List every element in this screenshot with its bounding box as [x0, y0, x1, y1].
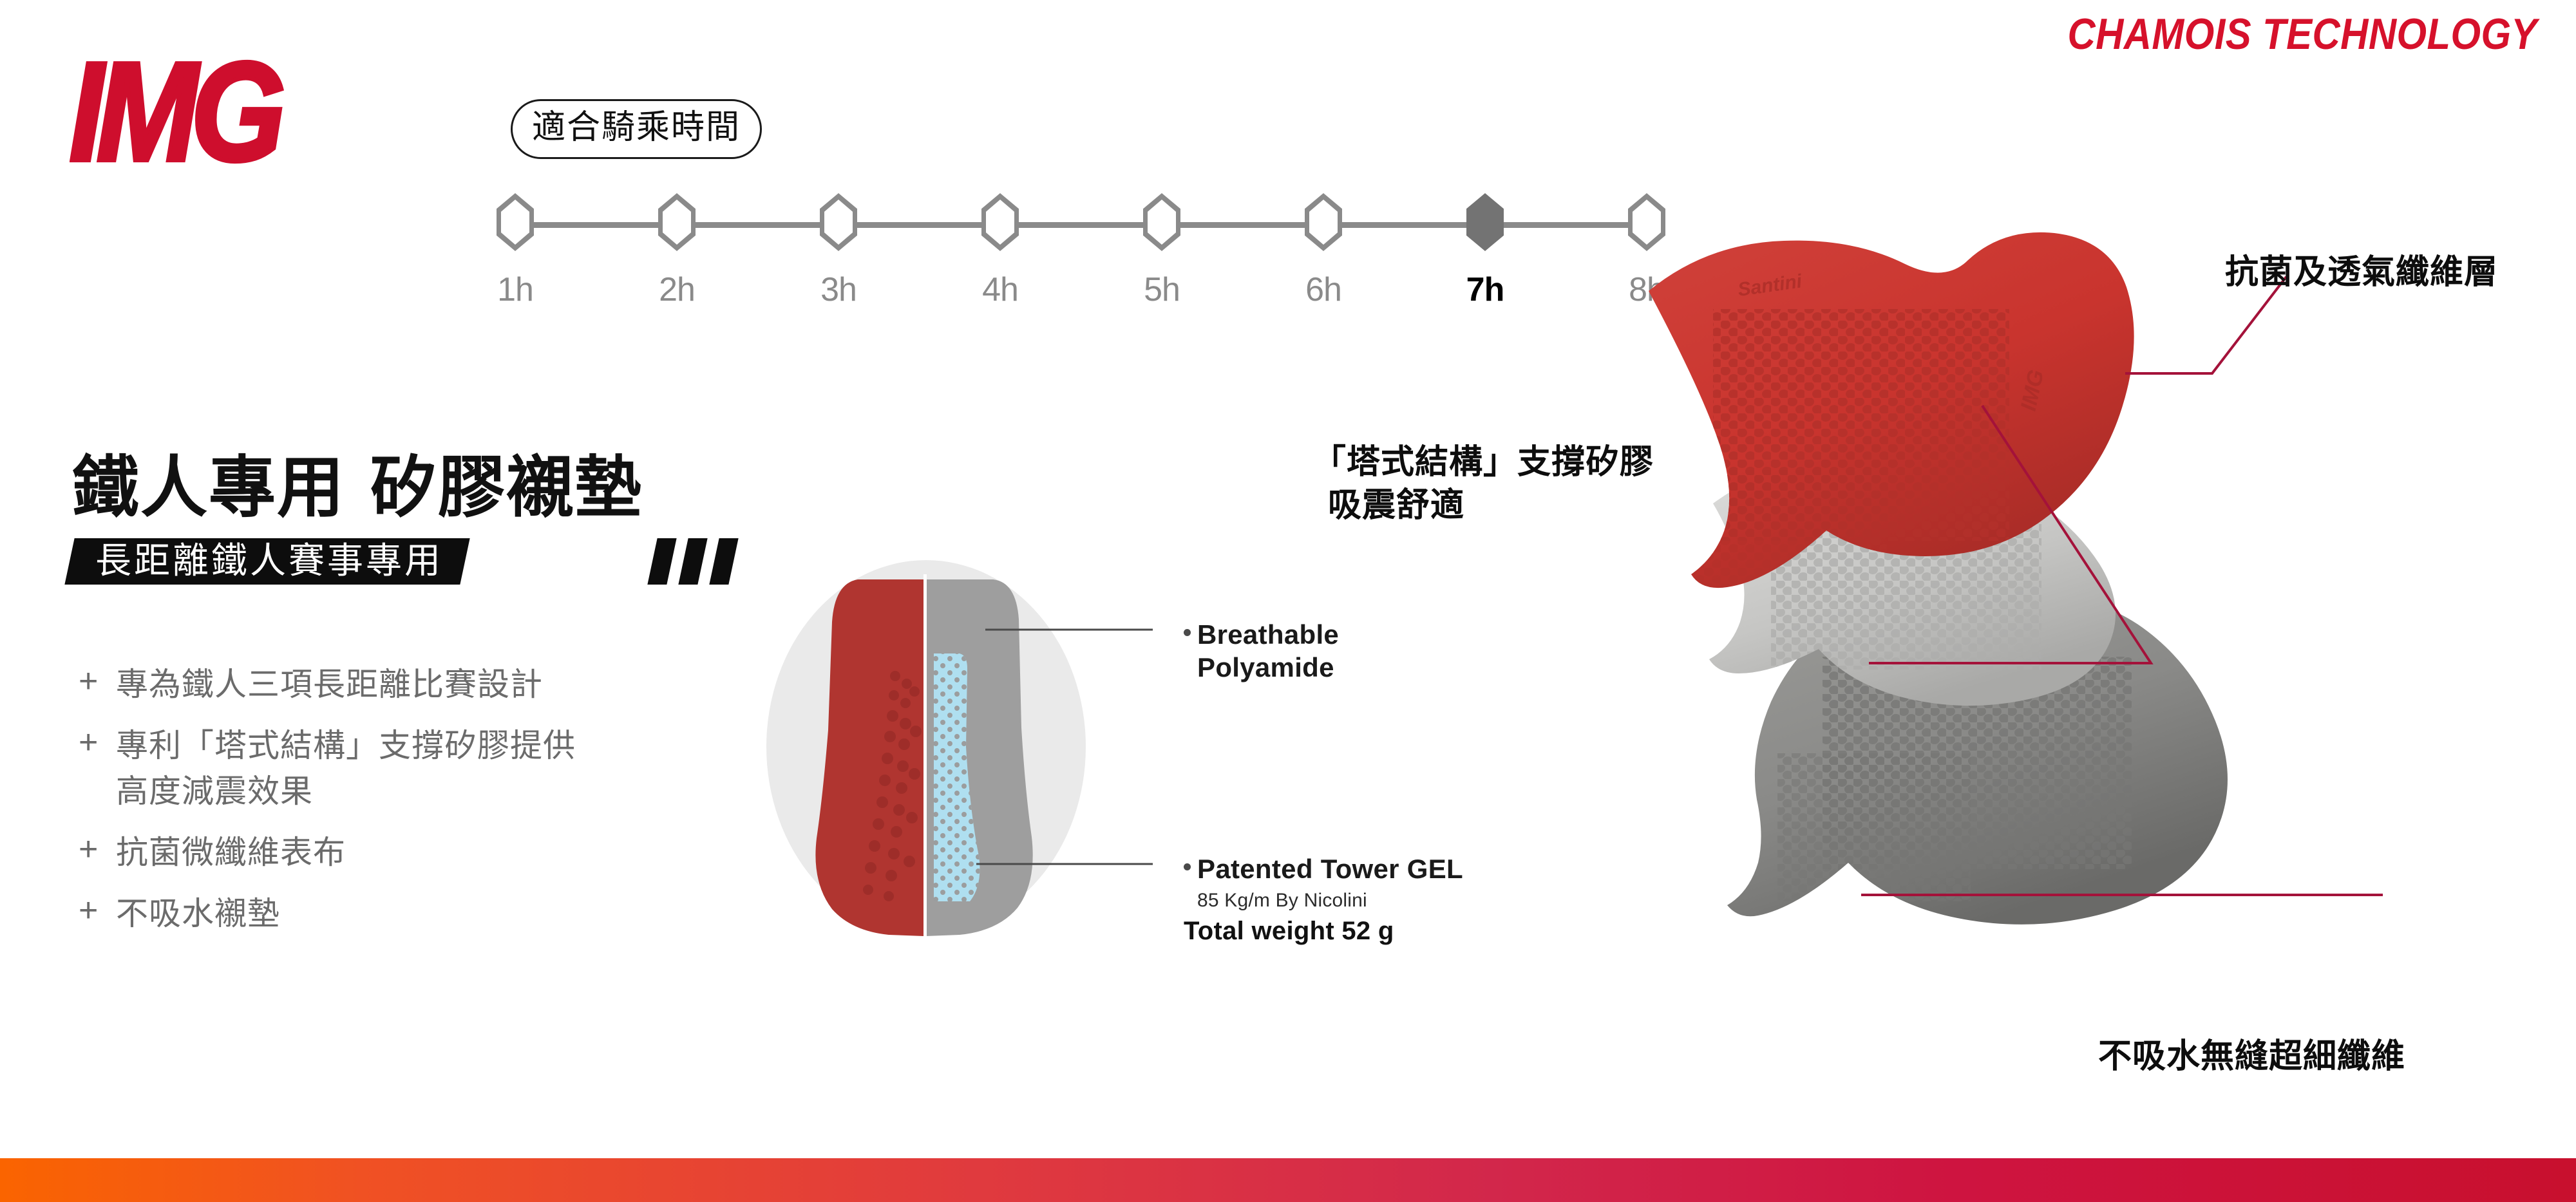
chamois-cross-section-diagram [741, 534, 1153, 946]
img-logo-text: IMG [70, 31, 279, 193]
feature-text: 專利「塔式結構」支撐矽膠提供高度減震效果 [116, 723, 592, 814]
feature-list: + 專為鐵人三項長距離比賽設計 + 專利「塔式結構」支撐矽膠提供高度減震效果 +… [79, 662, 723, 952]
ride-time-pill-label: 適合騎乘時間 [511, 99, 762, 159]
exploded-pad-stack: Santini IMG [1436, 212, 2383, 1069]
list-item: + 不吸水襯墊 [79, 891, 723, 937]
banner-plate: 長距離鐵人賽事專用 [64, 538, 469, 585]
banner-label: 長距離鐵人賽事專用 [95, 543, 443, 579]
timeline-tick-label: 6h [1298, 270, 1349, 309]
banner-accent-bar-2 [678, 538, 707, 585]
product-title: 鐵人專用 矽膠襯墊 [72, 433, 643, 530]
hexagon-icon [497, 193, 534, 251]
gel-total-weight: Total weight 52 g [1184, 917, 1394, 946]
timeline-tick-6h[interactable]: 6h [1298, 193, 1349, 309]
hexagon-icon [1143, 193, 1180, 251]
chamois-technology-header: CHAMOIS TECHNOLOGY [2068, 9, 2537, 59]
plus-icon: + [79, 723, 116, 759]
timeline-tick-2h[interactable]: 2h [651, 193, 703, 309]
hexagon-icon [1305, 193, 1342, 251]
gel-spec-text: 85 Kg/m By Nicolini [1197, 890, 1367, 912]
callout-patented-tower-gel: Patented Tower GEL [1184, 854, 1463, 885]
img-logo: IMG [70, 39, 430, 148]
timeline-tick-5h[interactable]: 5h [1136, 193, 1188, 309]
product-banner: 長距離鐵人賽事專用 [70, 538, 465, 597]
callout-non-absorbent-microfiber: 不吸水無縫超細纖維 [2098, 1029, 2405, 1077]
callout-dot-icon [1184, 629, 1191, 636]
callout-dot-icon [1184, 863, 1191, 870]
hexagon-icon [658, 193, 696, 251]
feature-text: 不吸水襯墊 [116, 891, 280, 937]
timeline-tick-label: 4h [974, 270, 1026, 309]
list-item: + 專利「塔式結構」支撐矽膠提供高度減震效果 [79, 723, 723, 814]
list-item: + 專為鐵人三項長距離比賽設計 [79, 662, 723, 708]
banner-accent-bar-1 [647, 538, 676, 585]
callout-breathable-polyamide: Breathable Polyamide [1184, 618, 1339, 684]
banner-accent-bar-3 [709, 538, 738, 585]
plus-icon: + [79, 891, 116, 927]
timeline-tick-1h[interactable]: 1h [489, 193, 541, 309]
pad-red-half [815, 579, 923, 936]
timeline-tick-3h[interactable]: 3h [813, 193, 864, 309]
callout-tower-gel-support: 「塔式結構」支撐矽膠 吸震舒適 [1312, 441, 1654, 527]
plus-icon: + [79, 830, 116, 866]
timeline-tick-label: 2h [651, 270, 703, 309]
hexagon-icon [981, 193, 1019, 251]
timeline-tick-label: 5h [1136, 270, 1188, 309]
footer-gradient-bar [0, 1158, 2576, 1202]
infographic-canvas: IMG CHAMOIS TECHNOLOGY 適合騎乘時間 1h 2h 3h 4… [0, 0, 2576, 1202]
list-item: + 抗菌微纖維表布 [79, 830, 723, 876]
timeline-tick-4h[interactable]: 4h [974, 193, 1026, 309]
plus-icon: + [79, 662, 116, 698]
timeline-tick-label: 3h [813, 270, 864, 309]
callout-antibacterial-layer: 抗菌及透氣纖維層 [2225, 245, 2498, 293]
hexagon-icon [820, 193, 857, 251]
feature-text: 專為鐵人三項長距離比賽設計 [116, 662, 543, 708]
feature-text: 抗菌微纖維表布 [116, 830, 346, 876]
timeline-tick-label: 1h [489, 270, 541, 309]
split-line [923, 574, 927, 939]
